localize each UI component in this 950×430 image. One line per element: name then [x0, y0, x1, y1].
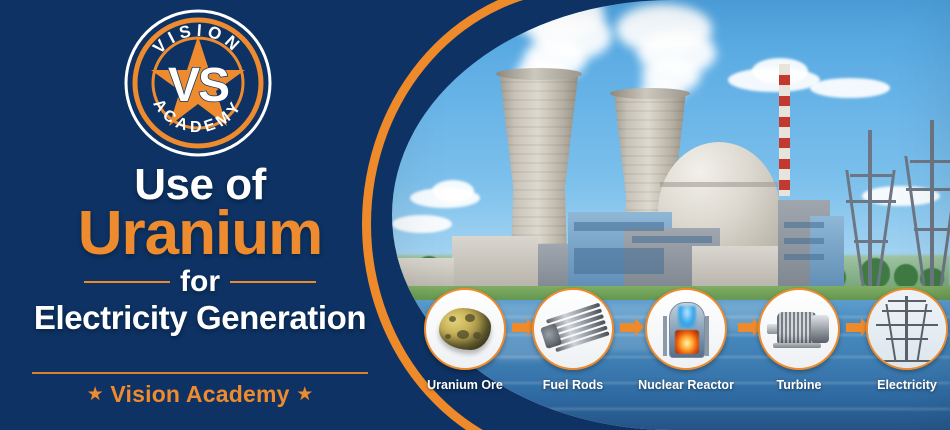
brand-divider	[32, 372, 368, 374]
flow-step-turbine[interactable]: Turbine	[758, 288, 840, 392]
star-left-icon: ★	[87, 384, 104, 405]
transmission-pylon	[844, 130, 898, 294]
rule-left	[84, 281, 170, 283]
cloud	[810, 78, 890, 98]
brand-footer: ★ Vision Academy ★	[0, 381, 400, 408]
turbine-icon	[758, 288, 840, 370]
flow-arrow-icon	[840, 288, 866, 366]
headline-line-3: for	[180, 266, 220, 298]
rule-right	[230, 281, 316, 283]
title-panel: VISION ACADEMY VS Use of Uranium for Ele…	[0, 0, 400, 430]
flow-arrow-icon	[614, 288, 640, 366]
flow-step-label: Electricity	[877, 378, 937, 392]
cloud	[392, 215, 452, 233]
flow-step-fuel-rods[interactable]: Fuel Rods	[532, 288, 614, 392]
brand-footer-text: Vision Academy	[110, 381, 289, 407]
cooling-tower-rim	[610, 88, 690, 99]
headline-line-3-row: for	[0, 266, 400, 298]
flow-step-label: Turbine	[777, 378, 822, 392]
uranium-ore-icon	[424, 288, 506, 370]
headline-line-4: Electricity Generation	[0, 299, 400, 337]
logo-monogram: VS	[168, 59, 229, 112]
cloud	[432, 180, 474, 202]
headline-block: Use of Uranium for Electricity Generatio…	[0, 162, 400, 337]
dome-band	[660, 182, 778, 187]
flow-arrow-icon	[732, 288, 758, 366]
flow-step-label: Uranium Ore	[427, 378, 503, 392]
flow-step-uranium-ore[interactable]: Uranium Ore	[424, 288, 506, 392]
star-right-icon: ★	[296, 384, 313, 405]
process-flow: Uranium Ore Fuel Rods	[424, 288, 944, 398]
flow-step-label: Nuclear Reactor	[638, 378, 734, 392]
headline-line-2: Uranium	[0, 204, 400, 264]
cooling-tower-rim	[496, 68, 582, 80]
transmission-tower-icon	[866, 288, 948, 370]
banner-root: VISION ACADEMY VS Use of Uranium for Ele…	[0, 0, 950, 430]
nuclear-reactor-icon	[645, 288, 727, 370]
transmission-pylon	[904, 120, 950, 294]
logo-svg: VISION ACADEMY VS	[123, 8, 273, 158]
chimney-stack	[779, 64, 790, 196]
flow-step-nuclear-reactor[interactable]: Nuclear Reactor	[640, 288, 732, 392]
fuel-rods-icon	[532, 288, 614, 370]
flow-arrow-icon	[506, 288, 532, 366]
flow-step-label: Fuel Rods	[543, 378, 603, 392]
flow-step-electricity[interactable]: Electricity	[866, 288, 948, 392]
vision-academy-logo[interactable]: VISION ACADEMY VS	[123, 8, 273, 158]
